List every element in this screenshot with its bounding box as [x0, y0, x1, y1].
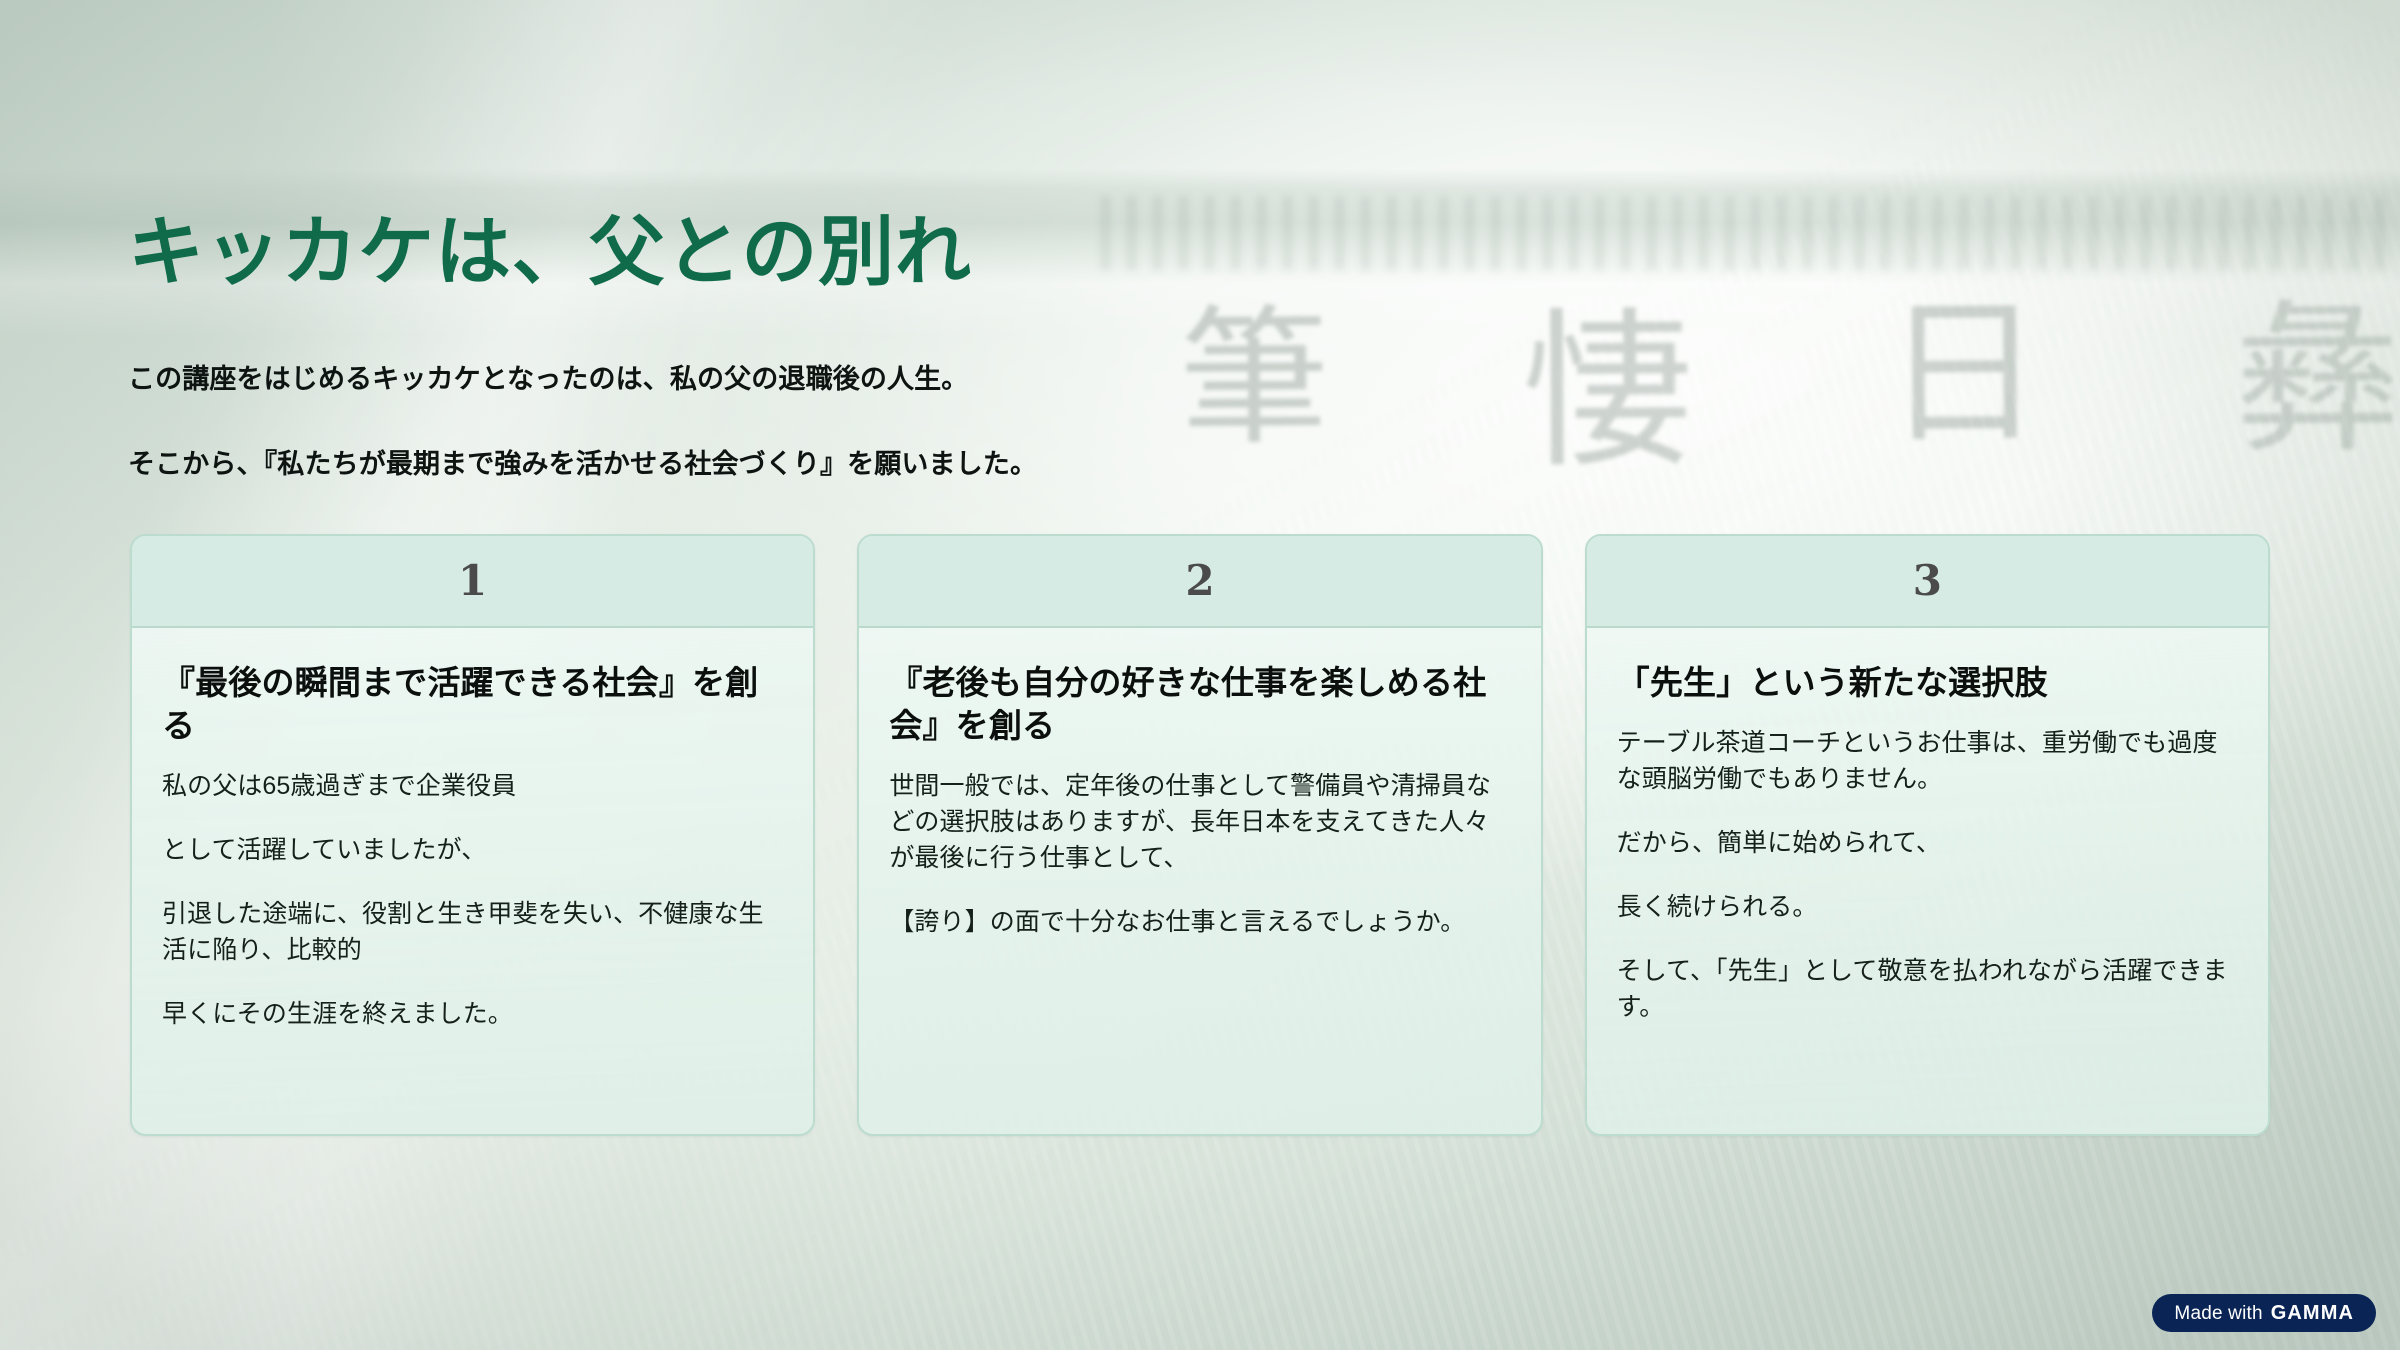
made-with-gamma-badge[interactable]: Made with GAMMA — [2152, 1294, 2376, 1332]
card-3-body: 「先生」という新たな選択肢 テーブル茶道コーチというお仕事は、重労働でも過度な頭… — [1587, 628, 2268, 1134]
card-3-header: 3 — [1587, 536, 2268, 628]
card-1-paragraph-1: 私の父は65歳過ぎまで企業役員 — [162, 768, 783, 804]
card-3-paragraph-4: そして、「先生」として敬意を払われながら活躍できます。 — [1617, 953, 2238, 1025]
intro-line-2: そこから、『私たちが最期まで強みを活かせる社会づくり』を願いました。 — [128, 445, 1308, 484]
card-2-number: 2 — [1185, 560, 1214, 602]
card-1-header: 1 — [132, 536, 813, 628]
slide-content: キッカケは、父との別れ この講座をはじめるキッカケとなったのは、私の父の退職後の… — [0, 0, 2400, 1350]
card-3-paragraph-2: だから、簡単に始められて、 — [1617, 825, 2238, 861]
card-3-number: 3 — [1913, 560, 1942, 602]
page-title: キッカケは、父との別れ — [128, 207, 972, 297]
slide-canvas: 筆 悽 日 彝 キッカケは、父との別れ この講座をはじめるキッカケとなったのは、… — [0, 0, 2400, 1350]
card-3-heading: 「先生」という新たな選択肢 — [1617, 662, 2238, 705]
card-1-body: 『最後の瞬間まで活躍できる社会』を創る 私の父は65歳過ぎまで企業役員 として活… — [132, 628, 813, 1134]
card-1-paragraph-4: 早くにその生涯を終えました。 — [162, 996, 783, 1032]
card-1-paragraph-3: 引退した途端に、役割と生き甲斐を失い、不健康な生活に陥り、比較的 — [162, 896, 783, 968]
card-1-paragraph-2: として活躍していましたが、 — [162, 832, 783, 868]
badge-made-with-label: Made with — [2174, 1304, 2262, 1323]
card-1-heading: 『最後の瞬間まで活躍できる社会』を創る — [162, 662, 783, 748]
card-3-paragraph-3: 長く続けられる。 — [1617, 889, 2238, 925]
card-2-header: 2 — [859, 536, 1540, 628]
intro-line-1: この講座をはじめるキッカケとなったのは、私の父の退職後の人生。 — [128, 360, 1308, 399]
card-3-paragraph-1: テーブル茶道コーチというお仕事は、重労働でも過度な頭脳労働でもありません。 — [1617, 725, 2238, 797]
card-1[interactable]: 1 『最後の瞬間まで活躍できる社会』を創る 私の父は65歳過ぎまで企業役員 とし… — [130, 534, 815, 1136]
cards-row: 1 『最後の瞬間まで活躍できる社会』を創る 私の父は65歳過ぎまで企業役員 とし… — [130, 534, 2270, 1136]
badge-brand-label: GAMMA — [2271, 1303, 2354, 1323]
card-2[interactable]: 2 『老後も自分の好きな仕事を楽しめる社会』を創る 世間一般では、定年後の仕事と… — [857, 534, 1542, 1136]
card-2-paragraph-1: 世間一般では、定年後の仕事として警備員や清掃員などの選択肢はありますが、長年日本… — [889, 768, 1510, 876]
card-3[interactable]: 3 「先生」という新たな選択肢 テーブル茶道コーチというお仕事は、重労働でも過度… — [1585, 534, 2270, 1136]
card-2-heading: 『老後も自分の好きな仕事を楽しめる社会』を創る — [889, 662, 1510, 748]
card-2-paragraph-2: 【誇り】の面で十分なお仕事と言えるでしょうか。 — [889, 904, 1510, 940]
card-1-number: 1 — [458, 560, 487, 602]
card-2-body: 『老後も自分の好きな仕事を楽しめる社会』を創る 世間一般では、定年後の仕事として… — [859, 628, 1540, 1134]
intro-block: この講座をはじめるキッカケとなったのは、私の父の退職後の人生。 そこから、『私た… — [128, 360, 1308, 484]
